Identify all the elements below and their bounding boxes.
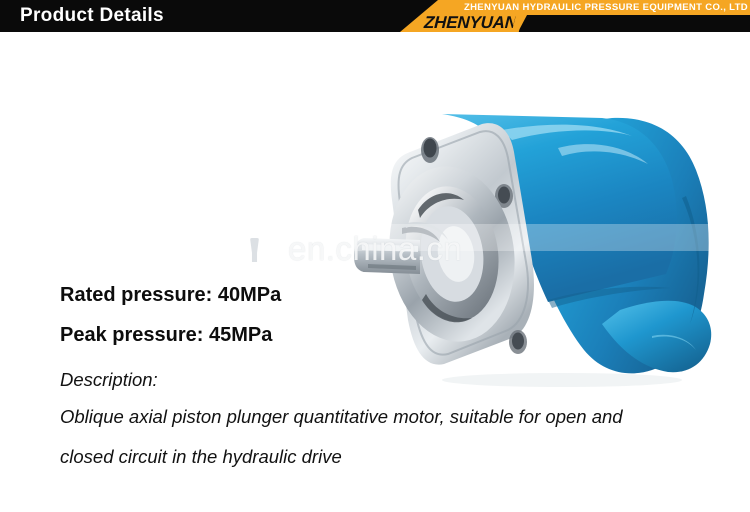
rated-pressure-text: Rated pressure: 40MPa — [60, 283, 281, 307]
brand-black-wedge — [518, 15, 750, 32]
peak-pressure-text: Peak pressure: 45MPa — [60, 323, 272, 347]
description-line-1: Oblique axial piston plunger quantitativ… — [60, 405, 623, 429]
product-image — [352, 88, 750, 388]
bolt-hole-inner — [498, 187, 510, 204]
product-details-page: Product Details ZHENYUAN HYDRAULIC PRESS… — [0, 0, 750, 512]
brand-logo: ZHENYUAN — [424, 14, 518, 32]
description-label: Description: — [60, 368, 158, 392]
page-header: Product Details ZHENYUAN HYDRAULIC PRESS… — [0, 0, 750, 32]
description-line-2: closed circuit in the hydraulic drive — [60, 445, 342, 469]
china-cn-logo-icon — [250, 238, 259, 262]
bolt-hole-inner — [424, 139, 437, 158]
bolt-hole-inner — [512, 333, 524, 350]
product-shadow — [442, 373, 682, 387]
page-title: Product Details — [20, 2, 164, 30]
